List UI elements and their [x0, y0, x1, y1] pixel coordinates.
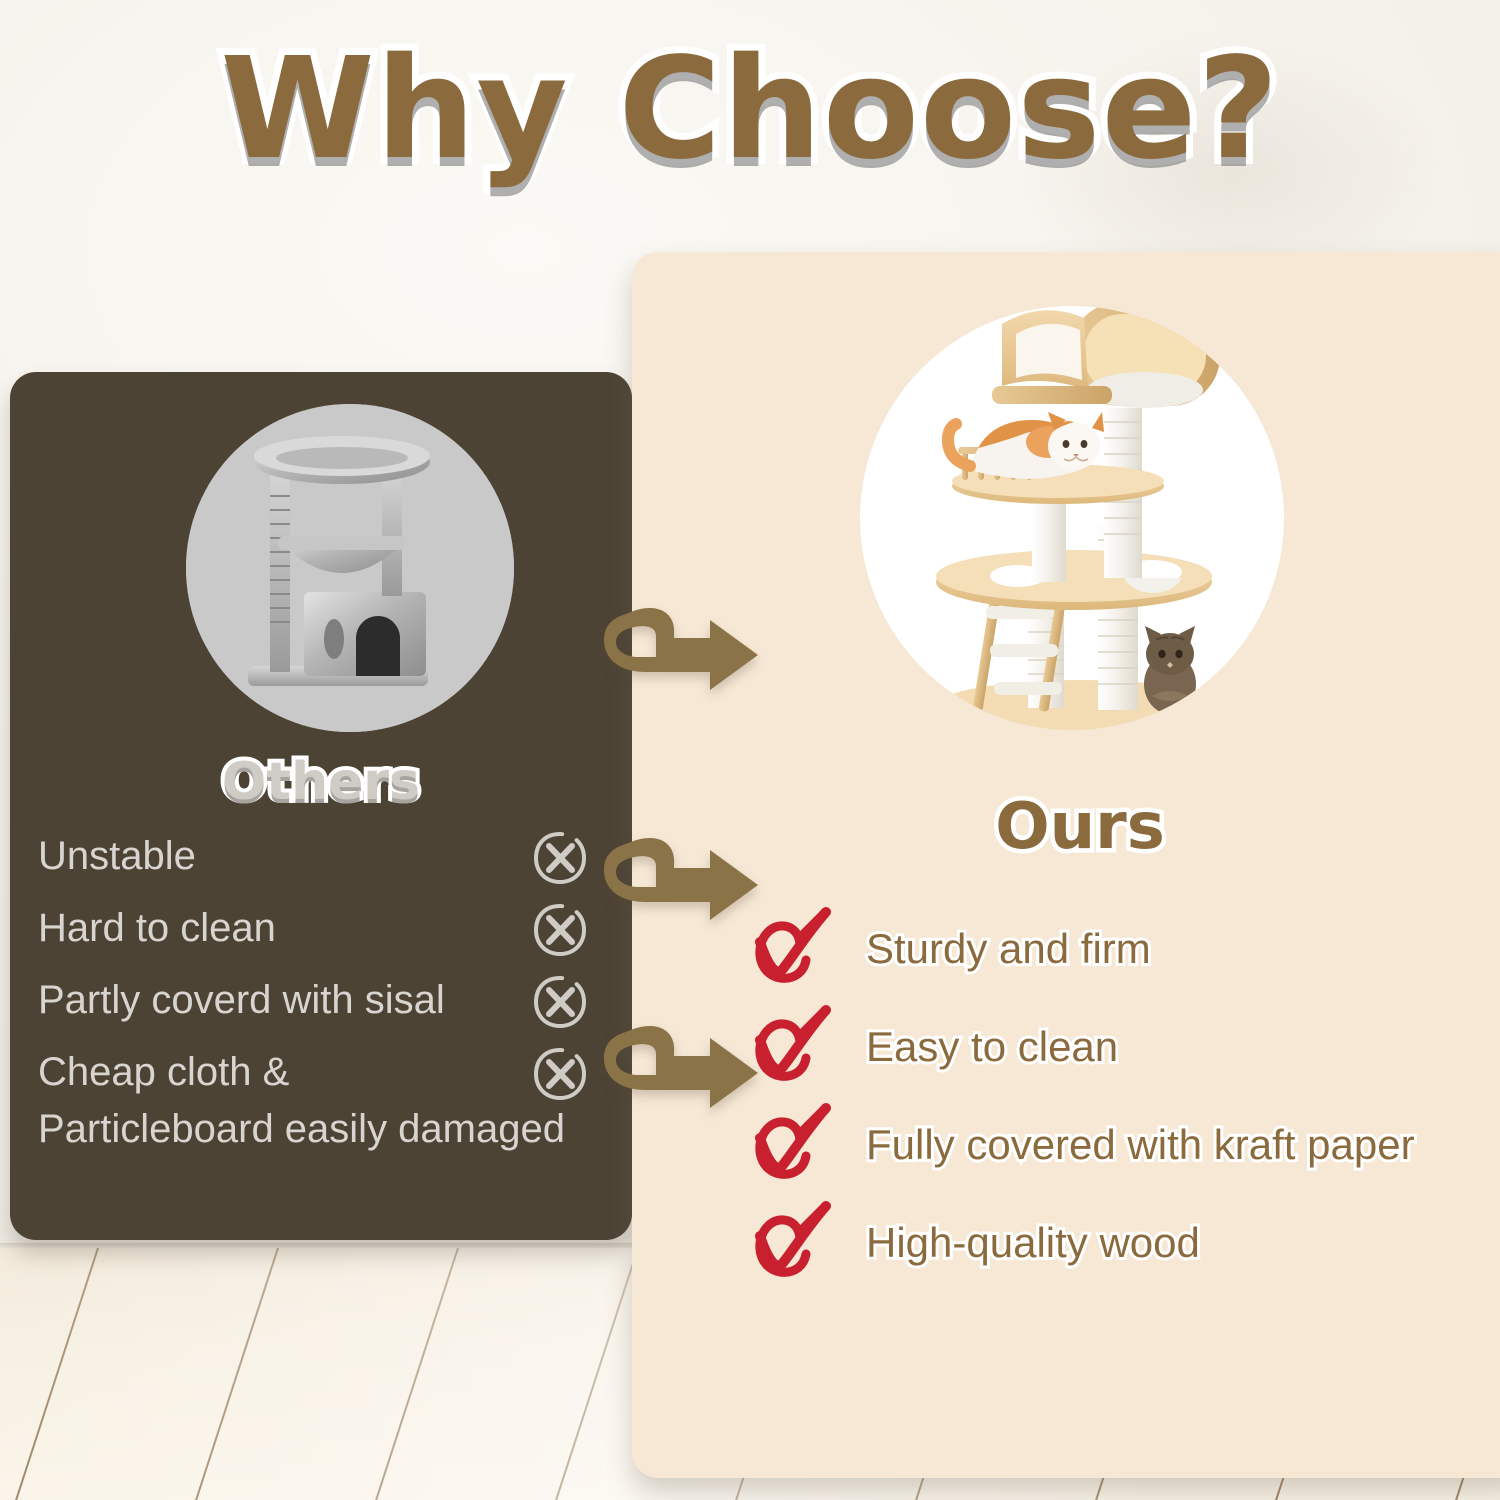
- x-mark-icon: [532, 830, 588, 886]
- ours-feature-list: Sturdy and firm Easy to clean Fully: [742, 906, 1500, 1298]
- list-item: Sturdy and firm: [742, 906, 1500, 1004]
- ours-item-label: Fully covered with kraft paper: [866, 1116, 1415, 1174]
- x-mark-icon: [532, 1046, 588, 1102]
- x-mark-icon: [532, 902, 588, 958]
- poster-canvas: Why Choose?: [0, 0, 1500, 1500]
- others-heading: Others: [10, 752, 632, 812]
- check-mark-icon: [742, 1200, 834, 1292]
- ours-heading: Ours: [760, 790, 1400, 864]
- page-title: Why Choose?: [0, 40, 1500, 180]
- x-mark-icon: [532, 974, 588, 1030]
- list-item: Cheap cloth & Particleboard easily damag…: [38, 1044, 618, 1162]
- list-item: Fully covered with kraft paper: [742, 1102, 1500, 1200]
- others-product-photo: [186, 404, 514, 732]
- ours-item-label: Sturdy and firm: [866, 920, 1151, 978]
- ours-item-label: Easy to clean: [866, 1018, 1118, 1076]
- arrow-right-3: [590, 1018, 770, 1128]
- others-feature-list: Unstable Hard to clean Partly coverd: [38, 828, 618, 1162]
- arrow-right-1: [590, 600, 770, 710]
- list-item: Easy to clean: [742, 1004, 1500, 1102]
- ours-product-photo: [852, 290, 1292, 760]
- list-item: High-quality wood: [742, 1200, 1500, 1298]
- list-item: Hard to clean: [38, 900, 618, 972]
- arrow-right-2: [590, 830, 770, 940]
- others-item-label: Hard to clean: [38, 900, 276, 957]
- others-item-label: Cheap cloth & Particleboard easily damag…: [38, 1044, 565, 1158]
- list-item: Partly coverd with sisal: [38, 972, 618, 1044]
- list-item: Unstable: [38, 828, 618, 900]
- ours-item-label: High-quality wood: [866, 1214, 1200, 1272]
- others-item-label: Unstable: [38, 828, 196, 885]
- others-item-label: Partly coverd with sisal: [38, 972, 445, 1029]
